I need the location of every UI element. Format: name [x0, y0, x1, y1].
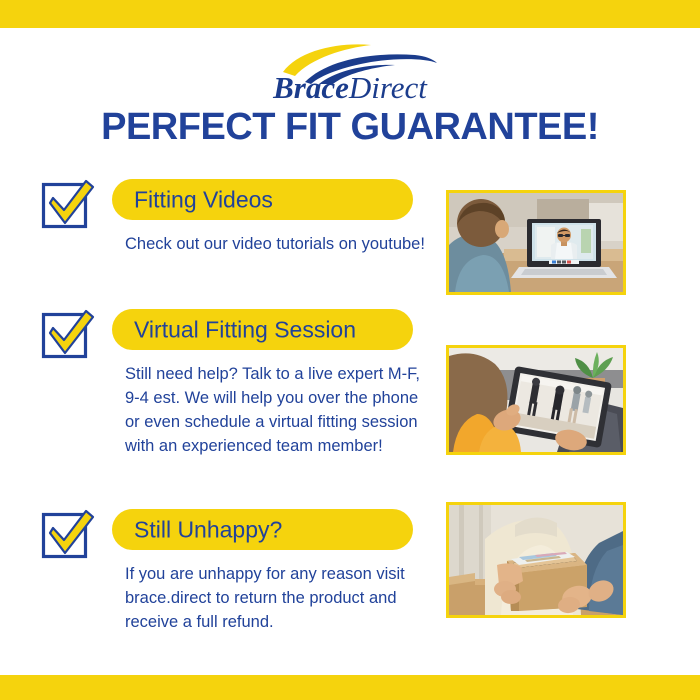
section-body-text: If you are unhappy for any reason visit …: [125, 562, 430, 634]
photo-laptop-video-call-image: [449, 193, 623, 292]
pill-label: Fitting Videos: [134, 186, 273, 213]
page-title: PERFECT FIT GUARANTEE!: [0, 106, 700, 149]
perfect-fit-guarantee-poster: BraceDirect PERFECT FIT GUARANTEE! Fitti…: [0, 0, 700, 700]
brand-logo: BraceDirect: [0, 42, 700, 104]
photo-package-return: [446, 502, 626, 618]
checkbox-checked-icon: [40, 506, 98, 564]
section-body-text: Check out our video tutorials on youtube…: [125, 232, 430, 256]
logo-word-direct: Direct: [349, 70, 427, 105]
photo-tablet-fitting-session: [446, 345, 626, 455]
section-pill-fitting-videos: Fitting Videos: [112, 179, 413, 220]
checkbox-checked-icon: [40, 306, 98, 364]
bottom-yellow-band: [0, 675, 700, 700]
pill-label: Virtual Fitting Session: [134, 316, 356, 343]
checkbox-checked-icon: [40, 176, 98, 234]
logo-wordmark: BraceDirect: [0, 70, 700, 106]
photo-laptop-video-call: [446, 190, 626, 295]
section-body-text: Still need help? Talk to a live expert M…: [125, 362, 430, 458]
section-pill-still-unhappy: Still Unhappy?: [112, 509, 413, 550]
photo-package-return-image: [449, 505, 623, 615]
photo-tablet-fitting-session-image: [449, 348, 623, 452]
logo-word-brace: Brace: [273, 70, 349, 105]
top-yellow-band: [0, 0, 700, 28]
section-pill-virtual-fitting-session: Virtual Fitting Session: [112, 309, 413, 350]
pill-label: Still Unhappy?: [134, 516, 282, 543]
